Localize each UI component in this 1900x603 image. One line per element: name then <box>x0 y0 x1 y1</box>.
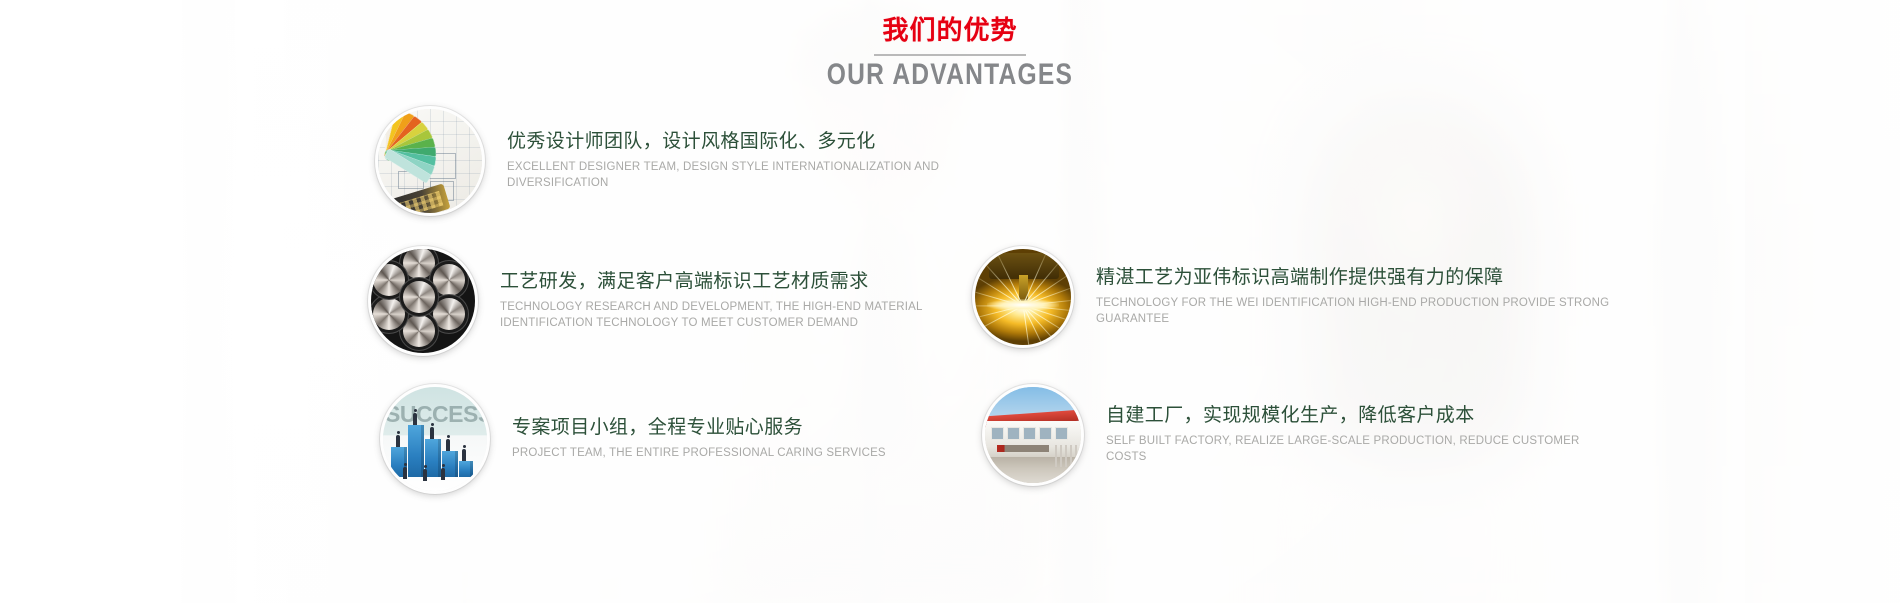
color-swatch-blueprint-icon <box>375 106 485 216</box>
advantage-title-cn: 工艺研发，满足客户高端标识工艺材质需求 <box>500 270 1008 295</box>
advantage-item-4[interactable]: SUCCESS 专案项目小组，全程专业贴心服务 <box>380 384 1000 494</box>
advantage-item-3[interactable]: 精湛工艺为亚伟标识高端制作提供强有力的保障 TECHNOLOGY FOR THE… <box>972 246 1612 348</box>
advantage-item-5[interactable]: 自建工厂，实现规模化生产，降低客户成本 SELF BUILT FACTORY, … <box>982 384 1602 486</box>
advantage-title-cn: 优秀设计师团队，设计风格国际化、多元化 <box>507 130 995 155</box>
metal-tubes-icon <box>368 246 478 356</box>
advantage-desc-en: TECHNOLOGY FOR THE WEI IDENTIFICATION HI… <box>1096 296 1612 328</box>
advantages-section: 我们的优势 OUR ADVANTAGES <box>0 0 1900 603</box>
advantage-text-5: 自建工厂，实现规模化生产，降低客户成本 SELF BUILT FACTORY, … <box>1106 404 1602 465</box>
section-title-cn: 我们的优势 <box>0 14 1900 47</box>
heading-divider <box>874 54 1026 56</box>
advantage-desc-en: SELF BUILT FACTORY, REALIZE LARGE-SCALE … <box>1106 434 1602 466</box>
advantage-text-3: 精湛工艺为亚伟标识高端制作提供强有力的保障 TECHNOLOGY FOR THE… <box>1096 266 1612 327</box>
advantages-content: 我们的优势 OUR ADVANTAGES <box>0 0 1900 603</box>
advantage-text-2: 工艺研发，满足客户高端标识工艺材质需求 TECHNOLOGY RESEARCH … <box>500 270 1008 331</box>
advantage-desc-en: EXCELLENT DESIGNER TEAM, DESIGN STYLE IN… <box>507 160 995 192</box>
advantage-title-cn: 专案项目小组，全程专业贴心服务 <box>512 416 1000 441</box>
advantage-title-cn: 精湛工艺为亚伟标识高端制作提供强有力的保障 <box>1096 266 1612 291</box>
advantage-item-2[interactable]: 工艺研发，满足客户高端标识工艺材质需求 TECHNOLOGY RESEARCH … <box>368 246 1008 356</box>
welding-sparks-icon <box>972 246 1074 348</box>
advantage-desc-en: TECHNOLOGY RESEARCH AND DEVELOPMENT, THE… <box>500 300 1008 332</box>
factory-building-icon <box>982 384 1084 486</box>
advantage-text-1: 优秀设计师团队，设计风格国际化、多元化 EXCELLENT DESIGNER T… <box>507 130 995 191</box>
section-heading: 我们的优势 OUR ADVANTAGES <box>0 14 1900 92</box>
business-success-chart-icon: SUCCESS <box>380 384 490 494</box>
advantage-item-1[interactable]: 优秀设计师团队，设计风格国际化、多元化 EXCELLENT DESIGNER T… <box>375 106 995 216</box>
advantage-desc-en: PROJECT TEAM, THE ENTIRE PROFESSIONAL CA… <box>512 446 1000 462</box>
advantage-text-4: 专案项目小组，全程专业贴心服务 PROJECT TEAM, THE ENTIRE… <box>512 416 1000 462</box>
advantage-title-cn: 自建工厂，实现规模化生产，降低客户成本 <box>1106 404 1602 429</box>
section-title-en: OUR ADVANTAGES <box>171 58 1729 92</box>
